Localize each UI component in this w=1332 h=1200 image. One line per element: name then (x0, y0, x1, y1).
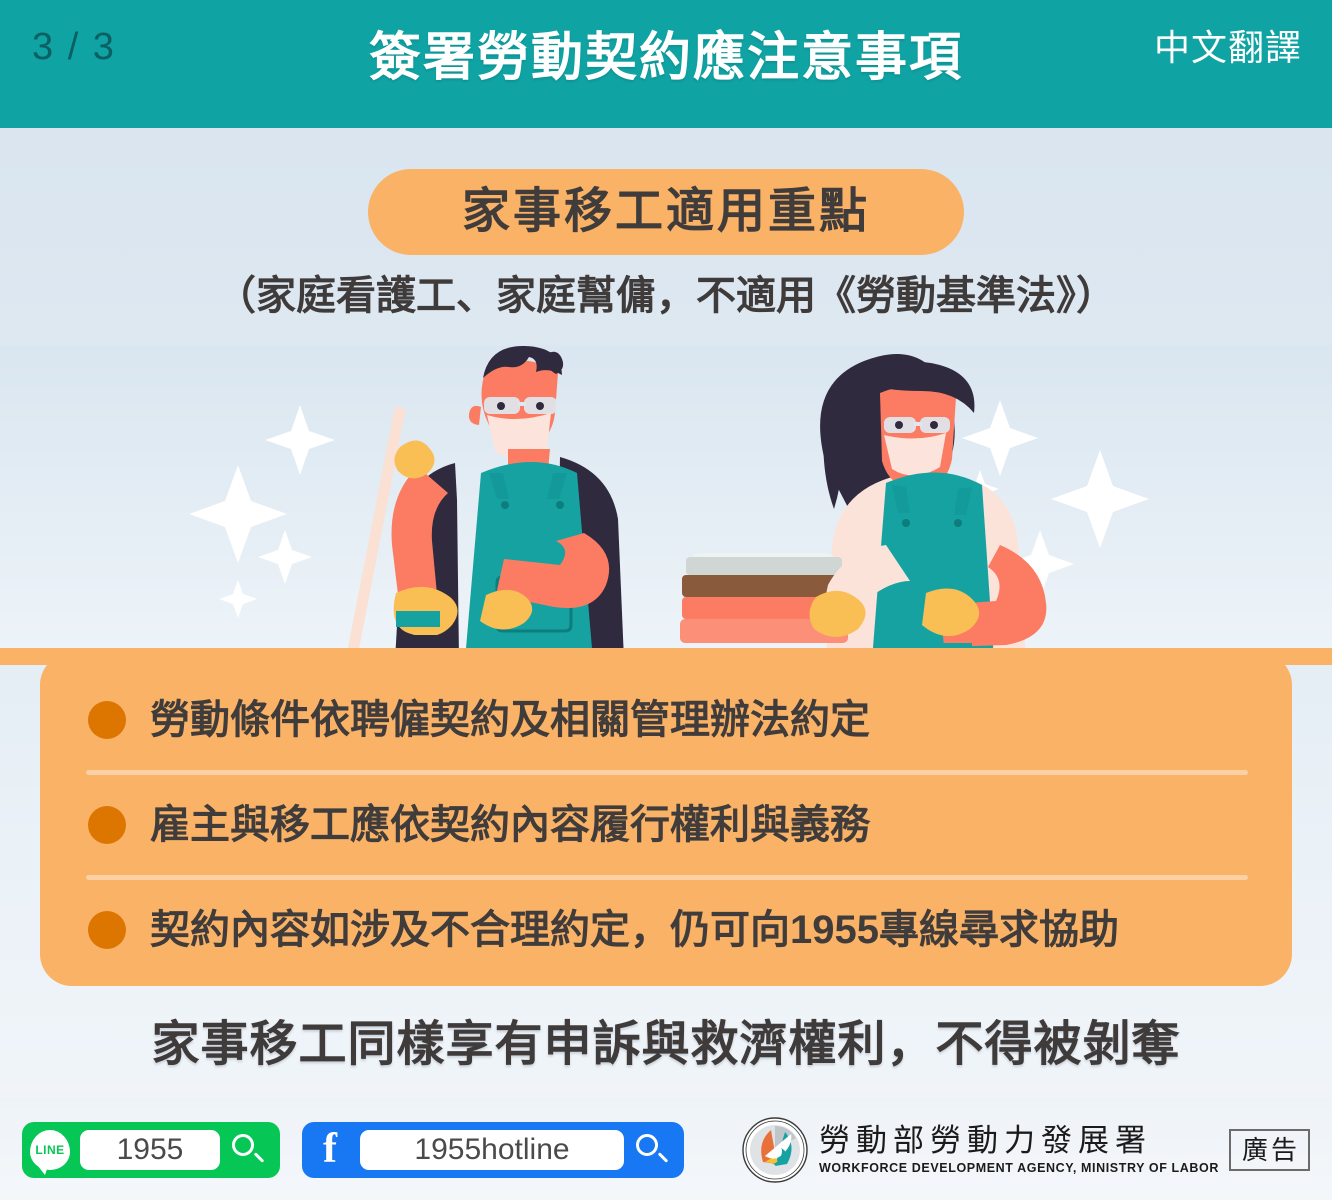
search-icon[interactable] (634, 1132, 670, 1168)
two-domestic-workers-illustration (0, 345, 1332, 665)
facebook-icon: f (310, 1129, 350, 1171)
section-heading-label: 家事移工適用重點 (462, 188, 870, 236)
header-bar: 3 / 3 簽署勞動契約應注意事項 中文翻譯 (0, 0, 1332, 128)
bullet-label-2: 雇主與移工應依契約內容履行權利與義務 (150, 802, 870, 848)
section-heading-pill: 家事移工適用重點 (368, 169, 964, 255)
bullet-label-3: 契約內容如涉及不合理約定，仍可向1955專線尋求協助 (150, 907, 1119, 953)
infographic-page: 3 / 3 簽署勞動契約應注意事項 中文翻譯 家事移工適用重點 （家庭看護工、家… (0, 0, 1332, 1200)
facebook-page-value: 1955hotline (414, 1135, 569, 1165)
agency-branding: 勞動部勞動力發展署 WORKFORCE DEVELOPMENT AGENCY, … (741, 1116, 1310, 1184)
bullet-dot-icon (88, 806, 126, 844)
line-id-value: 1955 (117, 1135, 184, 1165)
line-icon-label: LINE (35, 1144, 64, 1156)
facebook-contact-badge[interactable]: f 1955hotline (302, 1122, 684, 1178)
agency-logo-icon (741, 1116, 809, 1184)
agency-name-block: 勞動部勞動力發展署 WORKFORCE DEVELOPMENT AGENCY, … (819, 1124, 1219, 1176)
line-icon: LINE (30, 1130, 70, 1170)
bullet-divider (86, 875, 1248, 880)
line-contact-badge[interactable]: LINE 1955 (22, 1122, 280, 1178)
advertisement-badge: 廣告 (1229, 1129, 1310, 1171)
translation-label: 中文翻譯 (1154, 26, 1302, 69)
closing-statement: 家事移工同樣享有申訴與救濟權利，不得被剝奪 (0, 1016, 1332, 1074)
line-id-field: 1955 (80, 1130, 220, 1170)
search-icon[interactable] (230, 1132, 266, 1168)
agency-name-en: WORKFORCE DEVELOPMENT AGENCY, MINISTRY O… (819, 1161, 1219, 1176)
bullet-divider (86, 770, 1248, 775)
bullet-dot-icon (88, 701, 126, 739)
facebook-page-field: 1955hotline (360, 1130, 624, 1170)
footer-bar: LINE 1955 f 1955hotline (0, 1098, 1332, 1200)
section-subtitle: （家庭看護工、家庭幫傭，不適用《勞動基準法》） (0, 272, 1332, 320)
bullet-dot-icon (88, 911, 126, 949)
agency-name-zh: 勞動部勞動力發展署 (819, 1124, 1219, 1158)
bullet-item-3: 契約內容如涉及不合理約定，仍可向1955專線尋求協助 (74, 889, 1258, 971)
bullet-item-1: 勞動條件依聘僱契約及相關管理辦法約定 (74, 679, 1258, 761)
bullet-label-1: 勞動條件依聘僱契約及相關管理辦法約定 (150, 697, 870, 743)
bullet-item-2: 雇主與移工應依契約內容履行權利與義務 (74, 784, 1258, 866)
key-points-card: 勞動條件依聘僱契約及相關管理辦法約定 雇主與移工應依契約內容履行權利與義務 契約… (40, 653, 1292, 986)
page-title: 簽署勞動契約應注意事項 (0, 26, 1332, 91)
